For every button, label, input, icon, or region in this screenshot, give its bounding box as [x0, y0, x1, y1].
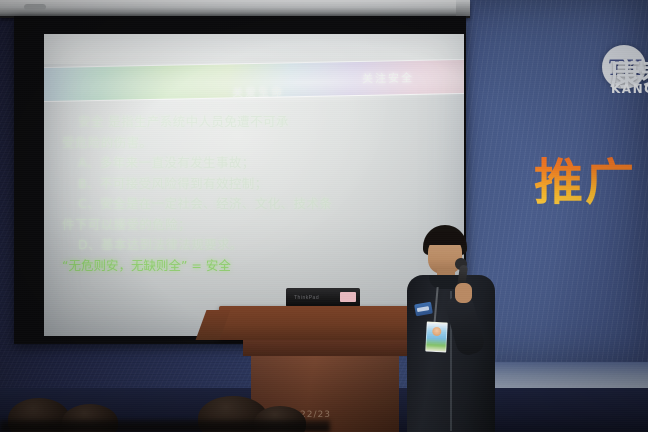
presentation-slide: 关爱生命 关注安全 安全 是指生产系统中人员免遭不可承 受危险的伤害。 A、多年…	[44, 34, 464, 336]
screen-housing-endcap	[456, 0, 470, 16]
banner-promo-headline: 推广	[534, 143, 636, 214]
presenter-fringe	[424, 231, 466, 245]
audience-shoulders	[0, 420, 330, 432]
presenter-hand	[455, 283, 472, 303]
slide-title-right: 关注安全	[362, 70, 414, 87]
slide-line-item-b: B、不可接受风险得到有效控制；	[62, 174, 456, 195]
slide-top-margin	[44, 34, 464, 64]
slide-line-item-d: D、基本达到法律法规要求。	[62, 235, 456, 256]
presenter-figure	[405, 225, 500, 432]
slide-line-definition-2: 受危险的伤害。	[62, 133, 456, 154]
slide-body: 安全 是指生产系统中人员免遭不可承 受危险的伤害。 A、多年来一直没有发生事故；…	[62, 112, 456, 276]
lectern-top	[219, 306, 419, 340]
slide-title-left: 关爱生命	[232, 84, 284, 101]
lectern-moulding	[243, 340, 407, 356]
laptop-sticker	[340, 292, 356, 302]
slide-line-item-c2: 件下可以接受的危险；	[62, 215, 456, 236]
slide-line-item-c1: C、安全是在一定社会、经济、文化、技术条	[62, 194, 456, 215]
lectern-laptop: ThinkPad	[286, 288, 360, 307]
slide-line-definition-1: 安全 是指生产系统中人员免遭不可承	[62, 112, 456, 133]
laptop-brand-label: ThinkPad	[294, 295, 319, 301]
projection-screen-frame: 关爱生命 关注安全 安全 是指生产系统中人员免遭不可承 受危险的伤害。 A、多年…	[14, 16, 466, 344]
slide-line-item-a: A、多年来一直没有发生事故；	[62, 153, 456, 174]
projection-screen-surface: 关爱生命 关注安全 安全 是指生产系统中人员免遭不可承 受危险的伤害。 A、多年…	[44, 34, 464, 336]
brand-name-latin: KANGTAI	[611, 82, 648, 96]
presenter-id-badge	[425, 321, 448, 352]
screen-roller-knob	[24, 4, 46, 10]
screenshot-stage: 关爱生命 关注安全 安全 是指生产系统中人员免遭不可承 受危险的伤害。 A、多年…	[0, 0, 648, 432]
slide-line-conclusion: “无危则安，无缺则全” = 安全	[62, 256, 456, 277]
